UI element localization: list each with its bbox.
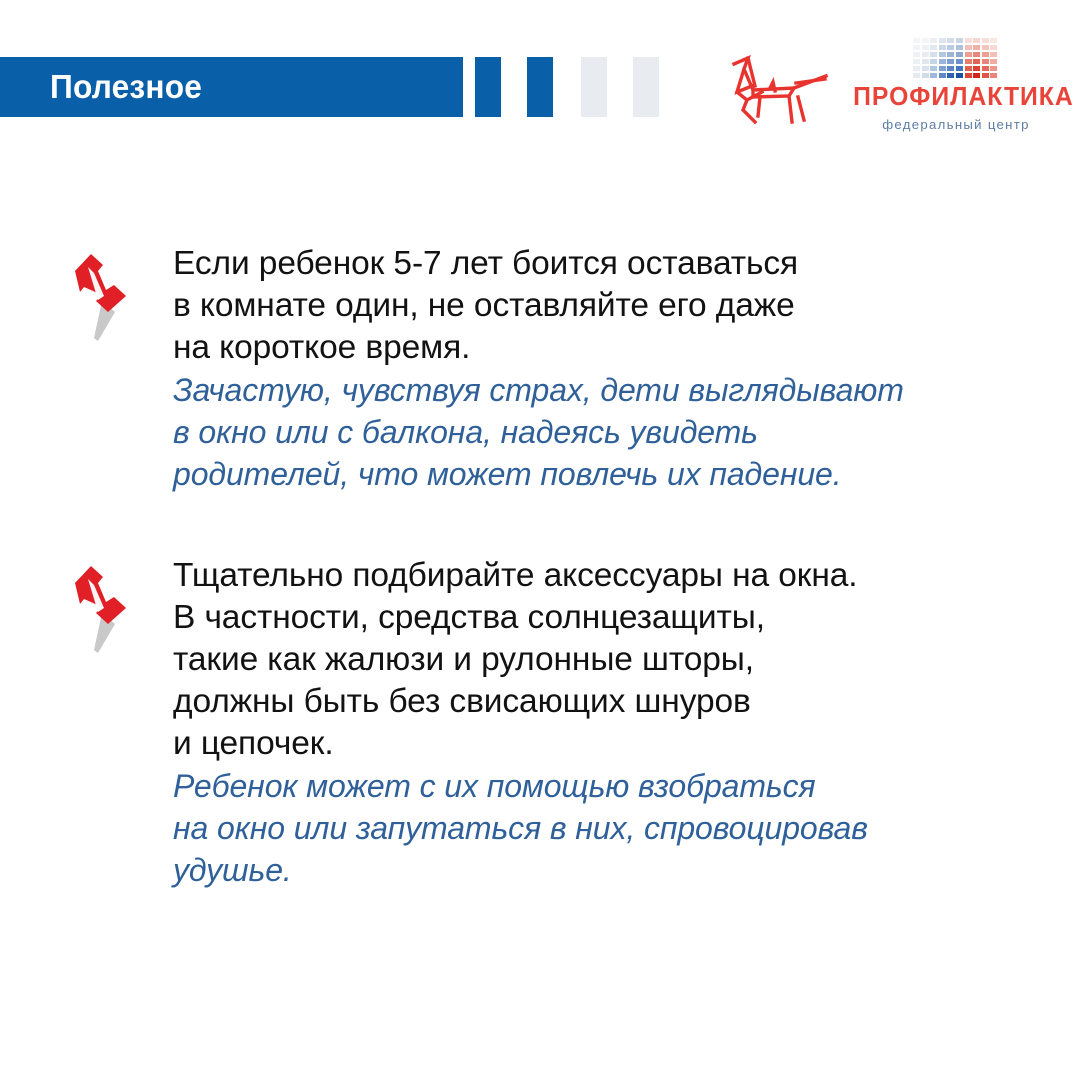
deco-block-blue-1 [475, 57, 501, 117]
deco-block-gray-1 [581, 57, 607, 117]
pixel-grid-icon [913, 38, 999, 78]
logo-title: ПРОФИЛАКТИКА [853, 85, 1059, 111]
logo-wordmark: ПРОФИЛАКТИКА федеральный центр [850, 38, 1062, 132]
page-header: Полезное [0, 0, 1080, 160]
tips-list: Если ребенок 5-7 лет боится оставаться в… [0, 243, 1080, 891]
logo-subtitle: федеральный центр [850, 117, 1062, 132]
tip-main-text: Тщательно подбирайте аксессуары на окна.… [173, 555, 1044, 765]
tip-item: Если ребенок 5-7 лет боится оставаться в… [0, 243, 1080, 495]
deco-block-gray-2 [633, 57, 659, 117]
brand-logo: ПРОФИЛАКТИКА федеральный центр [722, 38, 1062, 138]
red-pushpin-icon [58, 249, 144, 345]
red-pushpin-icon [58, 561, 144, 657]
tip-main-text: Если ребенок 5-7 лет боится оставаться в… [173, 243, 1044, 369]
tip-note-text: Ребенок может с их помощью взобраться на… [173, 765, 1044, 891]
tip-note-text: Зачастую, чувствуя страх, дети выглядыва… [173, 369, 1044, 495]
category-label: Полезное [50, 68, 202, 106]
tip-item: Тщательно подбирайте аксессуары на окна.… [0, 555, 1080, 891]
category-banner: Полезное [0, 57, 463, 117]
red-horse-line-drawing-icon [722, 52, 830, 124]
deco-block-blue-2 [527, 57, 553, 117]
